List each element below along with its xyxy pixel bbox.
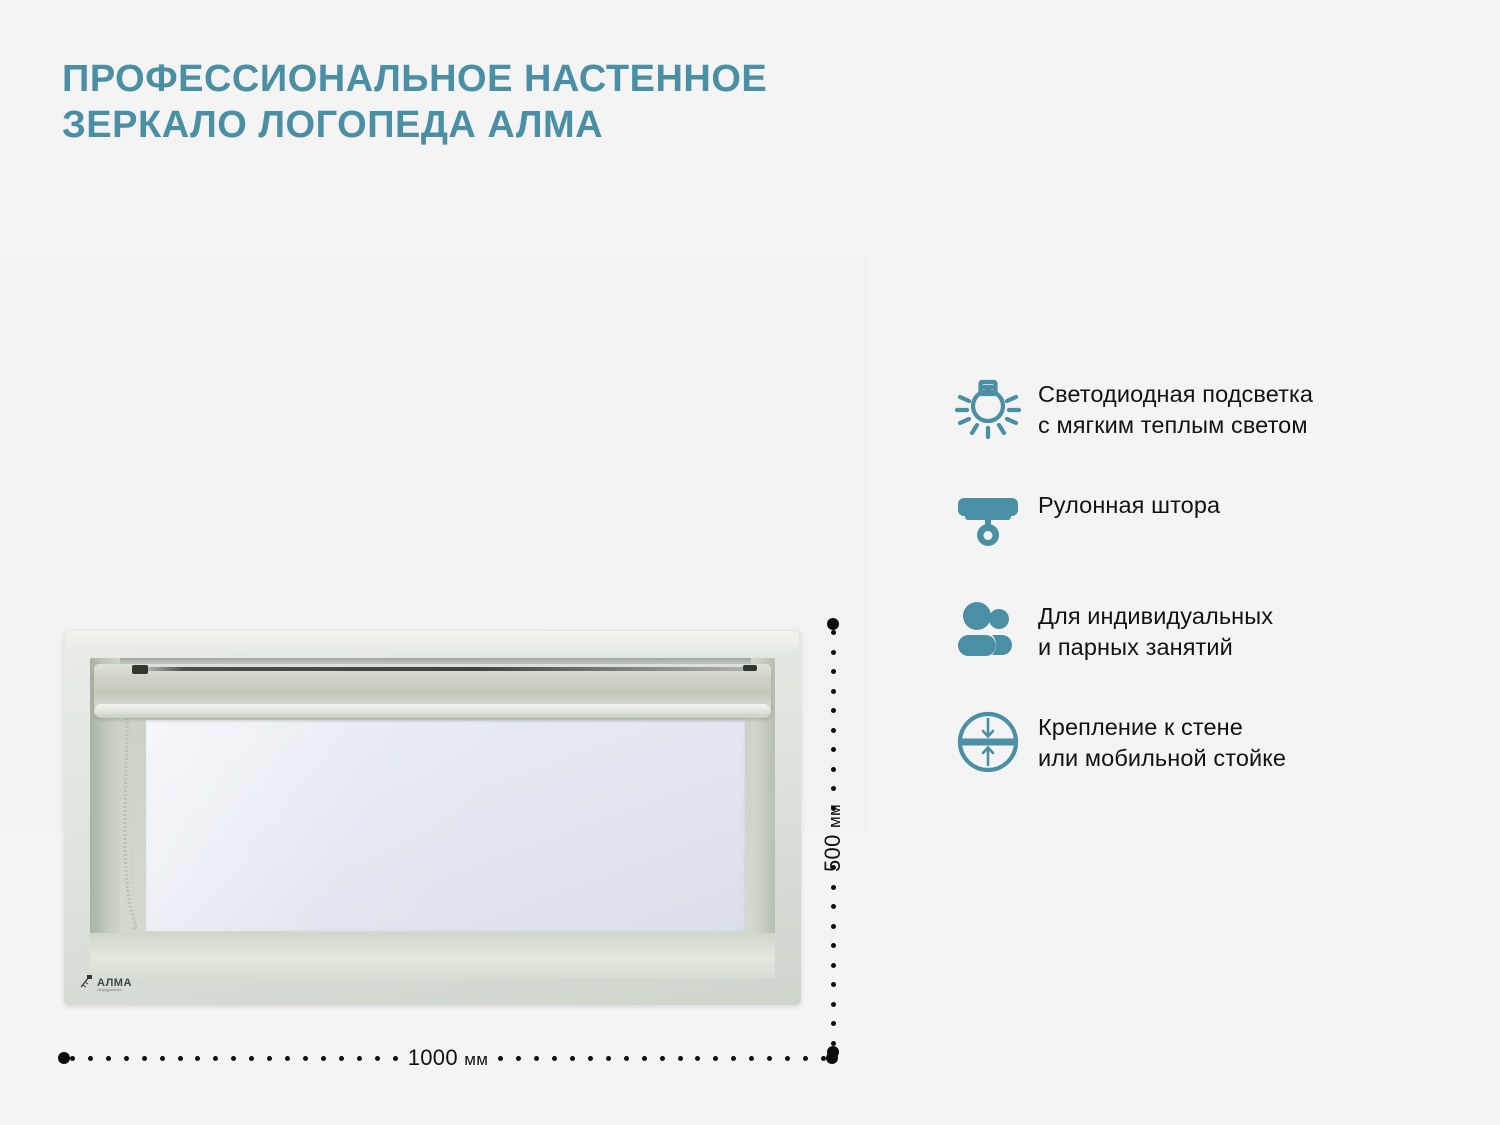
mirror-frame: АЛМА оборудование — [64, 630, 801, 1005]
page-title: ПРОФЕССИОНАЛЬНОЕ НАСТЕННОЕ ЗЕРКАЛО ЛОГОП… — [62, 56, 1022, 148]
feature-item-roller-blind: Рулонная штора — [952, 483, 1432, 557]
two-people-icon — [952, 594, 1038, 668]
roller-blind-icon — [952, 483, 1038, 557]
dimension-width: 1000 мм — [58, 1051, 838, 1065]
roller-blind-bottom-bar — [94, 704, 771, 718]
roller-blind-bracket-left — [132, 665, 148, 674]
frame-top-highlight — [66, 631, 799, 653]
dimension-dots-top — [830, 630, 836, 811]
feature-item-lesson-format: Для индивидуальных и парных занятий — [952, 594, 1432, 668]
product-logo: АЛМА оборудование — [80, 973, 154, 997]
roller-blind-chain — [120, 710, 142, 932]
frame-reveal-bottom — [90, 933, 775, 979]
logo-text: АЛМА — [97, 978, 132, 988]
dimension-height: 500 мм — [825, 618, 841, 1058]
logo-subtext: оборудование — [97, 988, 132, 993]
mirror-glass-reflection — [146, 720, 745, 931]
logo-mark-icon — [80, 974, 96, 997]
feature-label: Крепление к стене или мобильной стойке — [1038, 705, 1432, 774]
product-mirror: АЛМА оборудование — [64, 630, 801, 1005]
dimension-endpoint — [827, 1046, 839, 1058]
feature-item-mounting: Крепление к стене или мобильной стойке — [952, 705, 1432, 779]
dimension-endpoint — [58, 1052, 70, 1064]
product-image-panel: АЛМА оборудование 1000 мм — [0, 256, 869, 833]
lightbulb-rays-icon — [952, 372, 1038, 446]
dimension-height-label: 500 мм — [806, 804, 860, 872]
feature-label: Рулонная штора — [1038, 483, 1432, 521]
feature-item-led-light: Светодиодная подсветка с мягким теплым с… — [952, 372, 1432, 446]
dimension-dots-bottom — [830, 865, 836, 1046]
dimension-dots-right — [498, 1055, 826, 1061]
wall-mount-icon — [952, 705, 1038, 779]
feature-label: Светодиодная подсветка с мягким теплым с… — [1038, 372, 1432, 441]
roller-blind-rail — [134, 667, 755, 671]
dimension-dots-left — [70, 1055, 398, 1061]
dimension-endpoint — [827, 618, 839, 630]
feature-label: Для индивидуальных и парных занятий — [1038, 594, 1432, 663]
roller-blind-roll — [94, 664, 771, 710]
roller-blind-bracket-right — [743, 665, 757, 671]
mirror-frame-recess — [90, 658, 775, 979]
dimension-width-label: 1000 мм — [398, 1045, 499, 1071]
feature-list: Светодиодная подсветка с мягким теплым с… — [952, 372, 1432, 816]
mirror-glass — [146, 720, 745, 931]
